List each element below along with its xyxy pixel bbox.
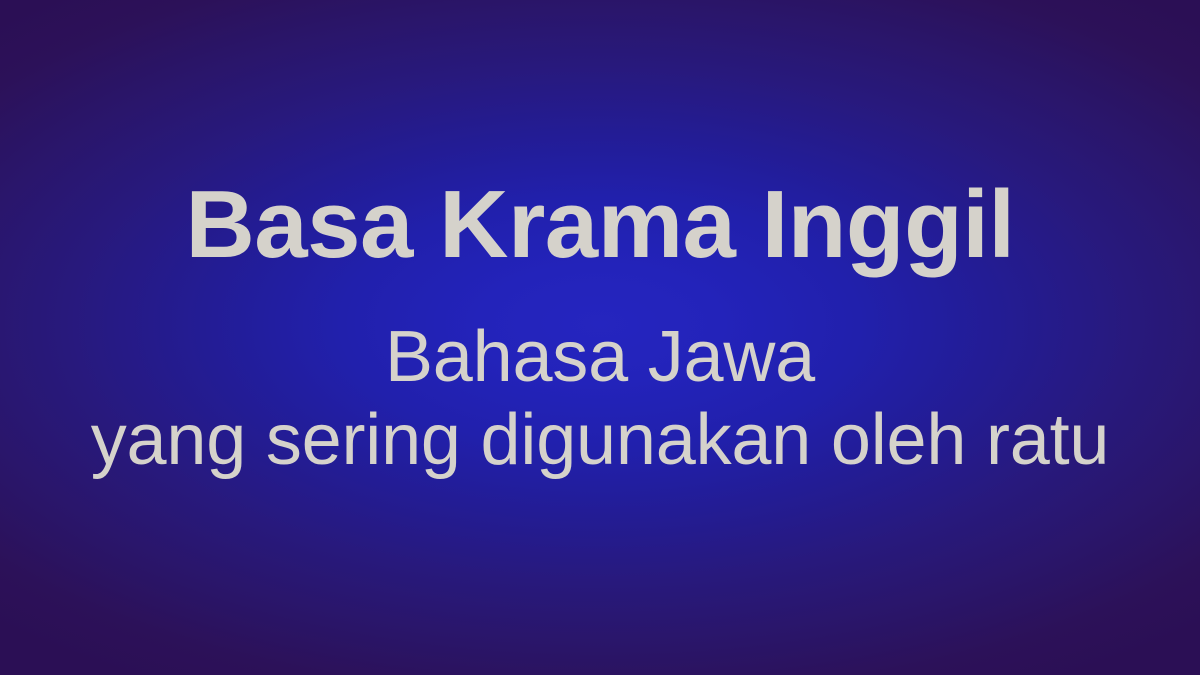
page-title: Basa Krama Inggil <box>185 176 1014 274</box>
subtitle-line-1: Bahasa Jawa <box>385 316 815 400</box>
slide-content: Basa Krama Inggil Bahasa Jawa yang serin… <box>0 0 1200 675</box>
title-slide: Basa Krama Inggil Bahasa Jawa yang serin… <box>0 0 1200 675</box>
subtitle-block: Bahasa Jawa yang sering digunakan oleh r… <box>91 316 1110 483</box>
subtitle-line-2: yang sering digunakan oleh ratu <box>91 399 1110 483</box>
